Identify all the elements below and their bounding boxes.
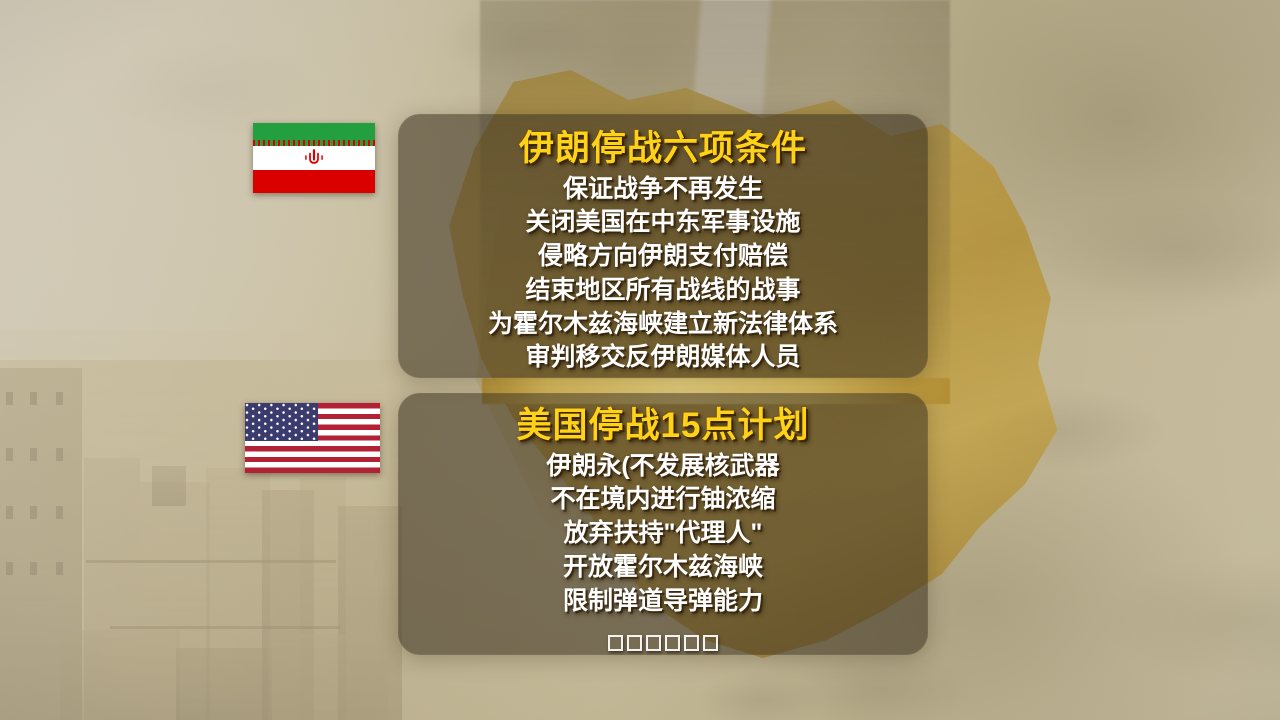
iran-flag-kufic-bottom: [253, 170, 375, 176]
list-item: 侵略方向伊朗支付赔偿: [488, 240, 838, 274]
usa-flag-canton: [245, 403, 318, 441]
list-item: 伊朗永(不发展核武器: [546, 450, 779, 484]
infographic-stage: 伊朗停战六项条件 保证战争不再发生 关闭美国在中东军事设施 侵略方向伊朗支付赔偿…: [0, 0, 1280, 720]
iran-emblem-icon: [303, 148, 325, 168]
list-item: 放弃扶持"代理人": [546, 517, 779, 551]
cityscape-overlay: [0, 330, 400, 720]
panel-usa-title: 美国停战15点计划: [517, 407, 810, 446]
panel-usa-plan: 美国停战15点计划 伊朗永(不发展核武器 不在境内进行铀浓缩 放弃扶持"代理人"…: [398, 393, 928, 655]
list-item: 限制弹道导弹能力: [546, 585, 779, 619]
iran-flag: [253, 123, 375, 193]
list-item: 关闭美国在中东军事设施: [488, 206, 838, 240]
usa-flag: [245, 403, 380, 473]
panel-usa-list: 伊朗永(不发展核武器 不在境内进行铀浓缩 放弃扶持"代理人" 开放霍尔木兹海峡 …: [546, 450, 779, 619]
list-item: 审判移交反伊朗媒体人员: [488, 341, 838, 375]
list-item: 开放霍尔木兹海峡: [546, 551, 779, 585]
iran-flag-kufic-top: [253, 140, 375, 146]
panel-iran-title: 伊朗停战六项条件: [519, 130, 807, 169]
list-item: 为霍尔木兹海峡建立新法律体系: [488, 308, 838, 342]
list-item: 不在境内进行铀浓缩: [546, 483, 779, 517]
usa-flag-stars: [245, 403, 318, 441]
list-item: 结束地区所有战线的战事: [488, 274, 838, 308]
panel-iran-list: 保证战争不再发生 关闭美国在中东军事设施 侵略方向伊朗支付赔偿 结束地区所有战线…: [488, 173, 838, 376]
list-item: 保证战争不再发生: [488, 173, 838, 207]
ellipsis-indicator: [606, 628, 720, 655]
panel-iran-conditions: 伊朗停战六项条件 保证战争不再发生 关闭美国在中东军事设施 侵略方向伊朗支付赔偿…: [398, 114, 928, 378]
